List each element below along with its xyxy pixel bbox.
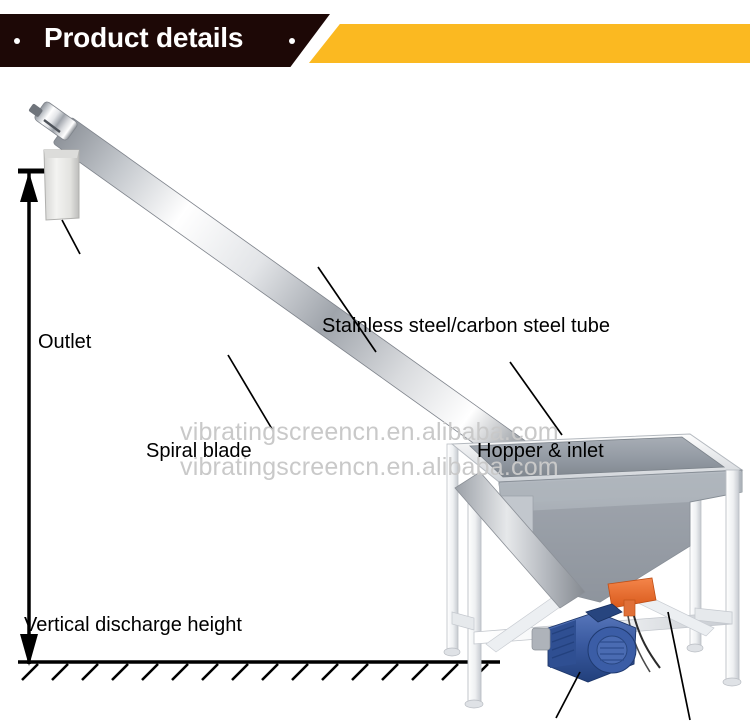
ground-line <box>18 662 500 680</box>
outlet-chute <box>44 150 79 220</box>
product-details-page: Product details <box>0 0 750 727</box>
vertical-discharge-dimension <box>18 171 64 666</box>
label-outlet: Outlet <box>38 332 91 352</box>
bullet-dot-icon-left <box>14 38 20 44</box>
label-tube: Stainless steel/carbon steel tube <box>322 316 610 336</box>
bullet-dot-icon-right <box>289 38 295 44</box>
hopper-assembly <box>444 434 742 708</box>
page-title: Product details <box>44 22 243 54</box>
label-hopper-inlet: Hopper & inlet <box>477 441 604 461</box>
label-spiral-blade: Spiral blade <box>146 441 252 461</box>
product-diagram: vibratingscreencn.en.alibaba.com vibrati… <box>0 72 750 727</box>
banner-accent-shape <box>309 24 750 63</box>
header-banner: Product details <box>0 0 750 72</box>
label-vertical-discharge-height: Vertical discharge height <box>24 615 242 635</box>
conveyor-tube <box>28 100 531 471</box>
